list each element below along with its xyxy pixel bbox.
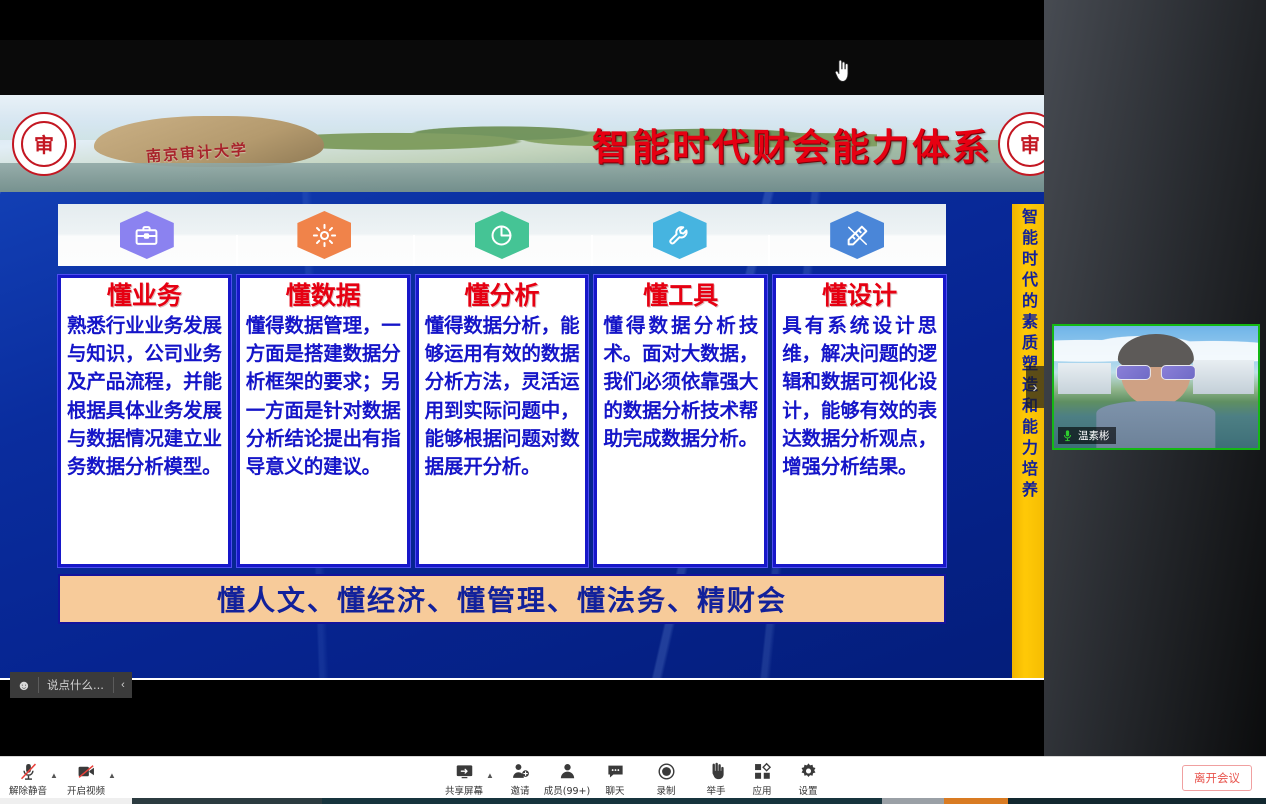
column-title: 懂设计	[782, 282, 937, 311]
shared-screen-region[interactable]: 南京审计大学 审 智能时代财会能力体系 审	[0, 0, 1044, 756]
video-options-caret-icon[interactable]: ▲	[108, 771, 116, 780]
toolbar-chat-button[interactable]: 聊天	[587, 761, 643, 797]
screen-letterbox-top	[0, 0, 1044, 40]
participant-name: 温素彬	[1078, 428, 1110, 443]
toolbar-video-button[interactable]: 开启视频	[58, 761, 114, 797]
toolbar-apps-label: 应用	[752, 783, 771, 797]
slide-side-bar: 智能时代的素质塑造和能力培养	[1012, 204, 1044, 680]
toolbar-settings-button[interactable]: 设置	[780, 761, 836, 797]
icon-cell-1	[58, 204, 236, 266]
video-tile[interactable]: 温素彬	[1052, 324, 1260, 450]
slide-title: 智能时代财会能力体系	[592, 117, 992, 171]
toolbar-mute-button[interactable]: 解除静音	[0, 761, 56, 797]
microphone-icon	[1061, 429, 1074, 442]
video-bg-building-left	[1058, 363, 1111, 395]
toolbar-chat-label: 聊天	[605, 783, 624, 797]
toolbar-mute-label: 解除静音	[9, 783, 47, 797]
icon-cell-4	[591, 204, 769, 266]
mute-options-caret-icon[interactable]: ▲	[50, 771, 58, 780]
column-text: 懂得数据分析技术。面对大数据，我们必须依靠强大的数据分析技术帮助完成数据分析。	[603, 312, 758, 453]
avatar-lens-right	[1161, 365, 1196, 380]
meeting-toolbar: 解除静音 ▲ 开启视频 ▲ 共享屏幕 ▲ 邀请 成员(9	[0, 756, 1266, 798]
icon-cell-5	[768, 204, 946, 266]
participants-icon	[558, 761, 577, 781]
taskbar-segment-4[interactable]	[882, 798, 944, 804]
taskbar-segment-6	[1008, 798, 1266, 804]
toolbar-participants-label: 成员(99+)	[544, 783, 590, 797]
chat-bubble-icon	[606, 761, 625, 781]
toolbar-video-label: 开启视频	[67, 783, 105, 797]
microphone-muted-icon	[19, 761, 38, 781]
slide-bottom-banner-text: 懂人文、懂经济、懂管理、懂法务、精财会	[217, 579, 787, 619]
column-text: 具有系统设计思维，解决问题的逻辑和数据可视化设计，能够有效的表达数据分析观点，增…	[782, 312, 937, 482]
raise-hand-icon	[707, 761, 726, 781]
slide-banner: 南京审计大学 审 智能时代财会能力体系 审	[0, 95, 1044, 192]
record-circle-icon	[657, 761, 676, 781]
capability-column: 懂工具 懂得数据分析技术。面对大数据，我们必须依靠强大的数据分析技术帮助完成数据…	[594, 275, 767, 567]
toolbar-raise-hand-label: 举手	[706, 783, 725, 797]
toolbar-share-screen-label: 共享屏幕	[445, 783, 483, 797]
crest-right-text: 审	[1007, 121, 1044, 167]
leave-meeting-button[interactable]: 离开会议	[1182, 765, 1252, 791]
toolbar-share-screen-button[interactable]: 共享屏幕	[436, 761, 492, 797]
icon-cell-3	[413, 204, 591, 266]
icon-cell-2	[236, 204, 414, 266]
avatar-lens-left	[1116, 365, 1151, 380]
slide-footer: 会计学院/智能管理会计与内部控制研究院（IMAIC） 温素彬 教授 博士生导师 …	[0, 678, 1044, 680]
os-taskbar	[0, 798, 1266, 804]
capability-column: 懂数据 懂得数据管理，一方面是搭建数据分析框架的要求；另一方面是针对数据分析结论…	[237, 275, 410, 567]
gear-settings-icon	[799, 761, 818, 781]
smiley-face-icon[interactable]: ☻	[10, 672, 38, 698]
avatar-glasses	[1116, 365, 1196, 380]
column-text: 懂得数据分析，能够运用有效的数据分析方法，灵活运用到实际问题中，能够根据问题对数…	[425, 312, 580, 482]
chat-collapse-icon[interactable]: ‹	[114, 672, 132, 698]
column-title: 懂工具	[603, 282, 758, 311]
column-title: 懂分析	[425, 282, 580, 311]
ruler-pencil-icon	[830, 211, 884, 259]
chat-overlay-bar[interactable]: ☻ 说点什么... ‹	[10, 672, 132, 698]
toolbar-record-label: 录制	[656, 783, 675, 797]
video-camera-off-icon	[77, 761, 96, 781]
toolbar-settings-label: 设置	[798, 783, 817, 797]
column-title: 懂数据	[246, 282, 401, 311]
column-title: 懂业务	[67, 282, 222, 311]
presentation-slide: 南京审计大学 审 智能时代财会能力体系 审	[0, 95, 1044, 680]
capability-column: 懂分析 懂得数据分析，能够运用有效的数据分析方法，灵活运用到实际问题中，能够根据…	[416, 275, 589, 567]
toolbar-invite-label: 邀请	[510, 783, 529, 797]
slide-bottom-banner: 懂人文、懂经济、懂管理、懂法务、精财会	[58, 574, 946, 624]
briefcase-icon	[120, 211, 174, 259]
capability-columns: 懂业务 熟悉行业业务发展与知识，公司业务及产品流程，并能根据具体业务发展与数据情…	[58, 275, 946, 567]
participant-avatar	[1107, 336, 1205, 448]
university-crest-left-icon: 审	[12, 112, 76, 176]
pie-chart-icon	[475, 211, 529, 259]
capability-column: 懂设计 具有系统设计思维，解决问题的逻辑和数据可视化设计，能够有效的表达数据分析…	[773, 275, 946, 567]
video-name-label: 温素彬	[1058, 427, 1116, 444]
gear-icon	[297, 211, 351, 259]
toolbar-record-button[interactable]: 录制	[638, 761, 694, 797]
invite-person-icon	[511, 761, 530, 781]
wrench-icon	[653, 211, 707, 259]
crest-left-text: 审	[21, 121, 67, 167]
slide-side-bar-text: 智能时代的素质塑造和能力培养	[1016, 208, 1040, 502]
taskbar-segment-1	[0, 798, 132, 804]
capability-column: 懂业务 熟悉行业业务发展与知识，公司业务及产品流程，并能根据具体业务发展与数据情…	[58, 275, 231, 567]
screen-letterbox-strip	[0, 40, 1044, 95]
capability-icon-strip	[58, 204, 946, 266]
chat-input[interactable]: 说点什么...	[39, 677, 113, 693]
taskbar-segment-5[interactable]	[944, 798, 1008, 804]
avatar-hair	[1118, 334, 1194, 368]
share-screen-icon	[455, 761, 474, 781]
meeting-window: 南京审计大学 审 智能时代财会能力体系 审	[0, 0, 1266, 804]
taskbar-segment-3	[322, 798, 882, 804]
column-text: 懂得数据管理，一方面是搭建数据分析框架的要求；另一方面是针对数据分析结论提出有指…	[246, 312, 401, 482]
panel-collapse-handle[interactable]: ›	[1026, 366, 1044, 408]
apps-grid-icon	[753, 761, 772, 781]
taskbar-segment-2	[132, 798, 322, 804]
column-text: 熟悉行业业务发展与知识，公司业务及产品流程，并能根据具体业务发展与数据情况建立业…	[67, 312, 222, 482]
screen-letterbox-bottom	[0, 680, 1044, 756]
